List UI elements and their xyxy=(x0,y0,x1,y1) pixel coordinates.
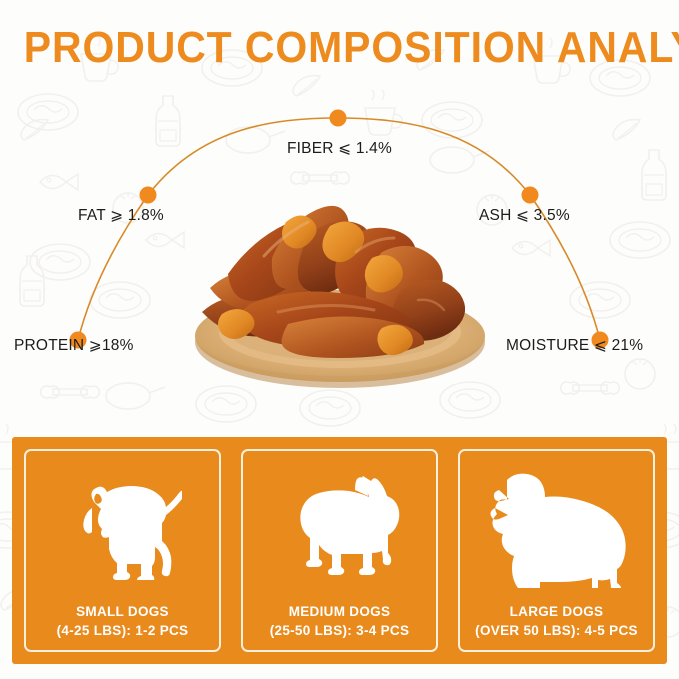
node-dot-fat xyxy=(140,187,157,204)
feeding-guide-cards: SMALL DOGS (4-25 LBS): 1-2 PCS MEDIUM DO… xyxy=(24,449,655,652)
infographic-page: PRODUCT COMPOSITION ANALYSIS xyxy=(0,0,679,679)
composition-diagram: FIBER ⩽ 1.4% FAT ⩾ 1.8% ASH ⩽ 3.5% PROTE… xyxy=(0,0,679,430)
medium-dog-icon xyxy=(243,451,436,602)
small-dog-icon xyxy=(26,451,219,602)
feeding-guide-panel: SMALL DOGS (4-25 LBS): 1-2 PCS MEDIUM DO… xyxy=(12,437,667,664)
feeding-card-text-small: SMALL DOGS (4-25 LBS): 1-2 PCS xyxy=(57,602,189,640)
feeding-card-text-medium: MEDIUM DOGS (25-50 LBS): 3-4 PCS xyxy=(270,602,410,640)
product-photo xyxy=(168,196,512,396)
feeding-card-text-large: LARGE DOGS (OVER 50 LBS): 4-5 PCS xyxy=(475,602,638,640)
card-title-large: LARGE DOGS xyxy=(475,602,638,621)
nutrient-label-ash: ASH ⩽ 3.5% xyxy=(479,206,570,225)
card-title-medium: MEDIUM DOGS xyxy=(270,602,410,621)
feeding-card-small-dogs[interactable]: SMALL DOGS (4-25 LBS): 1-2 PCS xyxy=(24,449,221,652)
nutrient-label-moisture: MOISTURE ⩽ 21% xyxy=(506,336,643,355)
card-detail-small: (4-25 LBS): 1-2 PCS xyxy=(57,621,189,640)
nutrient-label-fat: FAT ⩾ 1.8% xyxy=(78,206,164,225)
card-detail-medium: (25-50 LBS): 3-4 PCS xyxy=(270,621,410,640)
nutrient-label-protein: PROTEIN ⩾18% xyxy=(14,336,134,355)
node-dot-ash xyxy=(522,187,539,204)
nutrient-label-fiber: FIBER ⩽ 1.4% xyxy=(0,139,679,158)
card-detail-large: (OVER 50 LBS): 4-5 PCS xyxy=(475,621,638,640)
node-dot-fiber xyxy=(330,110,347,127)
feeding-card-medium-dogs[interactable]: MEDIUM DOGS (25-50 LBS): 3-4 PCS xyxy=(241,449,438,652)
card-title-small: SMALL DOGS xyxy=(57,602,189,621)
feeding-card-large-dogs[interactable]: LARGE DOGS (OVER 50 LBS): 4-5 PCS xyxy=(458,449,655,652)
large-dog-icon xyxy=(460,451,653,602)
